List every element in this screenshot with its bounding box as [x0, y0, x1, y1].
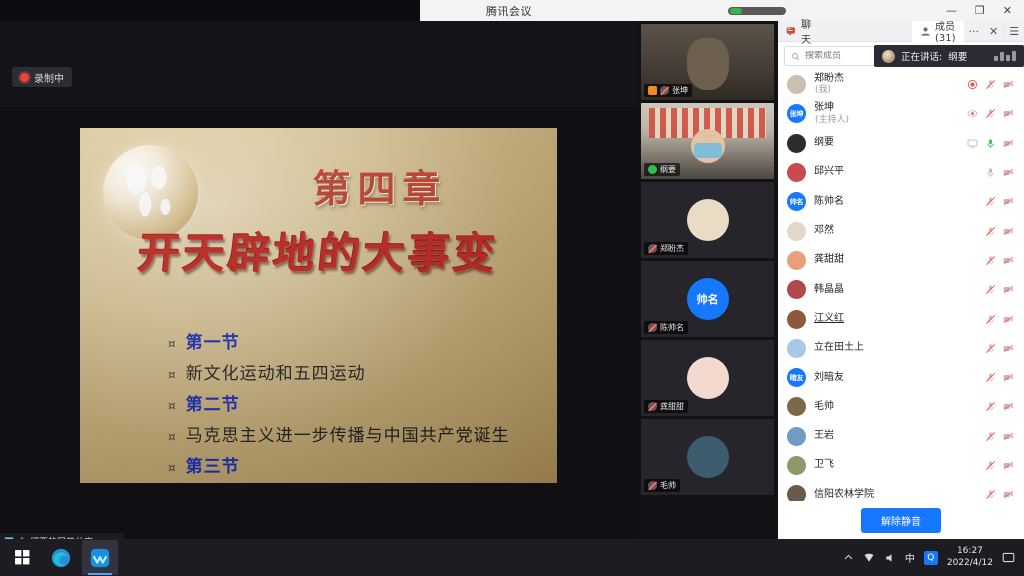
member-name: 王岩 [814, 430, 834, 442]
bullet-marker-icon: ¤ [168, 369, 176, 381]
tencent-meeting-icon [89, 547, 111, 569]
thumbnail-name-badge: 郑盼杰 [644, 242, 688, 255]
stage-top-strip [0, 21, 637, 107]
member-name-block: 立在田土上 [814, 342, 864, 354]
panel-footer: 解除静音 [778, 501, 1024, 539]
member-list[interactable]: 郑盼杰(我)张坤张坤(主持人)纲要邱兴平帅名陈帅名邓然龚甜甜韩晶晶江义红立在田土… [778, 68, 1024, 501]
member-role-label: (主持人) [815, 115, 849, 126]
member-row[interactable]: 郑盼杰(我) [778, 70, 1024, 99]
member-status-icons [985, 226, 1014, 237]
member-name: 卫飞 [814, 459, 834, 471]
slide-bullet-text: 新文化运动和五四运动 [186, 359, 366, 384]
avatar [787, 222, 806, 241]
clock-date: 2022/4/12 [947, 558, 993, 569]
slide-main-title: 开天辟地的大事变 [80, 220, 557, 281]
ime-indicator[interactable]: 中 [905, 550, 915, 565]
start-button[interactable] [4, 540, 40, 575]
member-name-block: 江义红 [814, 313, 844, 325]
video-off-icon[interactable] [1003, 460, 1014, 471]
member-name: 张坤 [814, 102, 849, 114]
recording-badge: 录制中 [12, 67, 72, 87]
mic-off-icon[interactable] [985, 284, 996, 295]
member-status-icons [985, 167, 1014, 178]
member-name-block: 邓然 [814, 225, 834, 237]
member-name: 龚甜甜 [814, 254, 844, 266]
slide-bullet-item: ¤第二节 [168, 390, 548, 415]
member-status-icons [985, 460, 1014, 471]
network-icon[interactable] [863, 552, 875, 564]
slide-bullet-item: ¤新文化运动和五四运动 [168, 359, 548, 384]
member-name: 邓然 [814, 225, 834, 237]
mic-off-icon[interactable] [985, 460, 996, 471]
panel-more-button[interactable]: ··· [964, 26, 985, 37]
slide-chapter-heading: 第四章 [240, 158, 520, 213]
avatar [787, 75, 806, 94]
avatar [787, 456, 806, 475]
member-name: 毛帅 [814, 401, 834, 413]
member-status-icons [985, 401, 1014, 412]
avatar: 暗友 [787, 368, 806, 387]
member-name-block: 纲要 [814, 137, 834, 149]
member-name: 郑盼杰 [814, 73, 844, 85]
thumbnail-name-badge: 毛帅 [644, 479, 680, 492]
mic-off-icon [660, 86, 669, 95]
member-row[interactable]: 王岩 [778, 422, 1024, 451]
video-off-icon[interactable] [1003, 431, 1014, 442]
member-status-icons [985, 343, 1014, 354]
member-name-block: 卫飞 [814, 459, 834, 471]
thumbnail-name: 张坤 [672, 85, 688, 96]
edge-button[interactable] [43, 540, 79, 575]
taskbar-icons [0, 540, 118, 575]
thumbnail-name: 毛帅 [660, 480, 676, 491]
thumbnail-name: 陈帅名 [660, 322, 684, 333]
member-status-icons [985, 284, 1014, 295]
panel-close-button[interactable]: ✕ [984, 26, 1003, 37]
shared-screen-stage[interactable]: 录制中 第四章 开天辟地的大事变 ¤第一节¤新文化运动和五四运动¤第二节¤马克思… [0, 21, 637, 539]
member-status-icons [985, 314, 1014, 325]
member-row[interactable]: 卫飞 [778, 451, 1024, 480]
member-name: 江义红 [814, 313, 844, 325]
video-thumbnail[interactable]: 龚甜甜 [641, 340, 774, 416]
member-row[interactable]: 张坤张坤(主持人) [778, 99, 1024, 128]
video-off-icon[interactable] [1003, 226, 1014, 237]
video-thumbnail[interactable]: 纲要 [641, 103, 774, 179]
window-titlebar: 腾讯会议 — ❐ ✕ [420, 0, 1024, 21]
qq-icon[interactable]: Q [924, 551, 938, 565]
mic-off-icon[interactable] [985, 401, 996, 412]
mic-muted-icon[interactable] [985, 167, 996, 178]
side-panel: 聊天 成员(31) ··· ✕ ☰ [778, 21, 1024, 539]
thumbnail-name: 郑盼杰 [660, 243, 684, 254]
screen-icon [967, 138, 978, 149]
mic-off-icon[interactable] [985, 79, 996, 90]
chat-icon [786, 26, 797, 37]
mic-off-icon [648, 402, 657, 411]
clock[interactable]: 16:27 2022/4/12 [947, 546, 993, 569]
avatar [787, 310, 806, 329]
thumbnail-name-badge: 陈帅名 [644, 321, 688, 334]
member-status-icons [967, 108, 1014, 119]
slide-bullet-text: 第二节 [186, 390, 240, 415]
avatar [787, 163, 806, 182]
tab-members[interactable]: 成员(31) [912, 21, 964, 42]
member-name: 邱兴平 [814, 166, 844, 178]
host-badge-icon [648, 86, 657, 95]
unmute-button[interactable]: 解除静音 [861, 508, 941, 533]
panel-menu-button[interactable]: ☰ [1003, 26, 1024, 37]
member-name-block: 刘暗友 [814, 372, 844, 384]
member-name: 陈帅名 [814, 196, 844, 208]
slide-bullet-item: ¤马克思主义进一步传播与中国共产党诞生 [168, 421, 548, 446]
avatar [687, 199, 729, 241]
avatar [787, 427, 806, 446]
thumbnail-name: 纲要 [660, 164, 676, 175]
slide-bullet-text: 第三节 [186, 452, 240, 477]
video-off-icon[interactable] [1003, 255, 1014, 266]
video-off-icon[interactable] [1003, 79, 1014, 90]
mic-off-icon[interactable] [985, 196, 996, 207]
member-row[interactable]: 毛帅 [778, 392, 1024, 421]
thumbnail-name-badge: 纲要 [644, 163, 680, 176]
video-off-icon[interactable] [1003, 196, 1014, 207]
member-row[interactable]: 邱兴平 [778, 158, 1024, 187]
member-row[interactable]: 江义红 [778, 304, 1024, 333]
member-name-block: 龚甜甜 [814, 254, 844, 266]
member-name: 韩晶晶 [814, 284, 844, 296]
slide-bullet-text: 马克思主义进一步传播与中国共产党诞生 [186, 421, 510, 446]
video-off-icon[interactable] [1003, 284, 1014, 295]
screen-root: 腾讯会议 — ❐ ✕ 录制中 第四章 开天辟地的大事变 ¤第一节¤新文化运动和五… [0, 0, 1024, 576]
video-off-icon[interactable] [1003, 314, 1014, 325]
thumbnail-name: 龚甜甜 [660, 401, 684, 412]
member-name: 信阳农林学院 [814, 489, 874, 501]
slide-bullet-item: ¤第一节 [168, 328, 548, 353]
member-name: 纲要 [814, 137, 834, 149]
panel-tab-bar: 聊天 成员(31) ··· ✕ ☰ [778, 21, 1024, 42]
bullet-marker-icon: ¤ [168, 400, 176, 412]
member-name-block: 陈帅名 [814, 196, 844, 208]
slide-bullet-list: ¤第一节¤新文化运动和五四运动¤第二节¤马克思主义进一步传播与中国共产党诞生¤第… [168, 328, 548, 483]
tab-members-label: 成员(31) [935, 18, 956, 44]
avatar [687, 436, 729, 478]
speaking-prefix-label: 正在讲话: [901, 49, 942, 63]
bullet-marker-icon: ¤ [168, 462, 176, 474]
speaker-avatar [882, 50, 895, 63]
bullet-marker-icon: ¤ [168, 338, 176, 350]
member-name-block: 信阳农林学院 [814, 489, 874, 501]
avatar [687, 357, 729, 399]
meeting-status-pill [728, 7, 786, 15]
member-row[interactable]: 邓然 [778, 216, 1024, 245]
member-row[interactable]: 帅名陈帅名 [778, 187, 1024, 216]
avatar [787, 339, 806, 358]
mic-off-icon[interactable] [985, 372, 996, 383]
member-name: 刘暗友 [814, 372, 844, 384]
person-silhouette [687, 38, 729, 90]
speaking-name-label: 纲要 [948, 49, 967, 63]
slide-bullet-text: 第一节 [186, 328, 240, 353]
clock-time: 16:27 [947, 546, 993, 557]
member-status-icons [985, 372, 1014, 383]
thumbnail-name-badge: 龚甜甜 [644, 400, 688, 413]
video-off-icon[interactable] [1003, 489, 1014, 500]
volume-icon[interactable] [884, 552, 896, 564]
member-row[interactable]: 暗友刘暗友 [778, 363, 1024, 392]
member-name-block: 韩晶晶 [814, 284, 844, 296]
member-role-label: (我) [815, 85, 844, 96]
mic-off-icon[interactable] [985, 255, 996, 266]
bullet-marker-icon: ¤ [168, 431, 176, 443]
avatar: 帅名 [787, 192, 806, 211]
chevron-up-icon[interactable] [843, 552, 854, 563]
notification-icon[interactable] [1002, 551, 1015, 564]
avatar [787, 251, 806, 270]
window-title: 腾讯会议 [486, 3, 532, 19]
avatar [787, 397, 806, 416]
windows-logo-icon [14, 549, 31, 566]
face-mask-icon [694, 143, 722, 158]
system-tray: 中 Q 16:27 2022/4/12 [843, 546, 1024, 569]
video-off-icon[interactable] [1003, 401, 1014, 412]
mic-off-icon[interactable] [985, 431, 996, 442]
mic-off-icon[interactable] [985, 343, 996, 354]
mic-off-icon[interactable] [985, 489, 996, 500]
mic-off-icon [648, 244, 657, 253]
member-row[interactable]: 韩晶晶 [778, 275, 1024, 304]
member-row[interactable]: 立在田土上 [778, 334, 1024, 363]
tab-chat[interactable]: 聊天 [778, 21, 819, 42]
slide-bullet-item: ¤第三节 [168, 452, 548, 477]
mic-off-icon [648, 323, 657, 332]
member-status-icons [985, 196, 1014, 207]
thumbnail-name-badge: 张坤 [644, 84, 692, 97]
close-button[interactable]: ✕ [1003, 5, 1012, 16]
member-name-block: 张坤(主持人) [814, 102, 849, 125]
avatar [787, 134, 806, 153]
member-name-block: 邱兴平 [814, 166, 844, 178]
video-thumbnail[interactable]: 郑盼杰 [641, 182, 774, 258]
member-status-icons [985, 255, 1014, 266]
window-controls: — ❐ ✕ [946, 5, 1024, 16]
avatar [787, 485, 806, 501]
mic-on-icon[interactable] [985, 138, 996, 149]
member-row[interactable]: 龚甜甜 [778, 246, 1024, 275]
video-thumbnail[interactable]: 张坤 [641, 24, 774, 100]
mic-off-icon [648, 481, 657, 490]
video-off-icon[interactable] [1003, 343, 1014, 354]
maximize-button[interactable]: ❐ [975, 5, 985, 16]
mic-off-icon[interactable] [985, 226, 996, 237]
member-row[interactable]: 纲要 [778, 129, 1024, 158]
windows-taskbar: 中 Q 16:27 2022/4/12 [0, 539, 1024, 576]
video-off-icon[interactable] [1003, 167, 1014, 178]
recording-icon [967, 79, 978, 90]
member-name-block: 郑盼杰(我) [814, 73, 844, 96]
presentation-slide: 第四章 开天辟地的大事变 ¤第一节¤新文化运动和五四运动¤第二节¤马克思主义进一… [80, 128, 557, 483]
share-screen-icon [967, 108, 978, 119]
member-search-row: 正在讲话: 纲要 [778, 42, 1024, 68]
edge-icon [50, 547, 72, 569]
tencent-meeting-button[interactable] [82, 540, 118, 575]
avatar [787, 280, 806, 299]
audio-wave-icon [994, 51, 1016, 61]
members-icon [920, 26, 931, 37]
mic-off-icon[interactable] [985, 314, 996, 325]
member-status-icons [985, 431, 1014, 442]
member-row[interactable]: 信阳农林学院 [778, 480, 1024, 501]
video-thumbnail[interactable]: 帅名陈帅名 [641, 261, 774, 337]
mic-off-icon[interactable] [985, 108, 996, 119]
member-name-block: 王岩 [814, 430, 834, 442]
video-off-icon[interactable] [1003, 138, 1014, 149]
mic-on-icon [648, 165, 657, 174]
speaking-toast: 正在讲话: 纲要 [874, 45, 1024, 67]
recording-label: 录制中 [34, 70, 64, 85]
video-thumbnail-strip[interactable]: 张坤纲要郑盼杰帅名陈帅名龚甜甜毛帅 [637, 21, 778, 539]
minimize-button[interactable]: — [946, 5, 957, 16]
avatar: 张坤 [787, 104, 806, 123]
search-icon [791, 52, 800, 61]
member-status-icons [967, 138, 1014, 149]
avatar: 帅名 [687, 278, 729, 320]
video-thumbnail[interactable]: 毛帅 [641, 419, 774, 495]
video-off-icon[interactable] [1003, 372, 1014, 383]
record-dot-icon [20, 73, 29, 82]
member-status-icons [985, 489, 1014, 500]
member-status-icons [967, 79, 1014, 90]
member-name: 立在田土上 [814, 342, 864, 354]
member-name-block: 毛帅 [814, 401, 834, 413]
video-off-icon[interactable] [1003, 108, 1014, 119]
